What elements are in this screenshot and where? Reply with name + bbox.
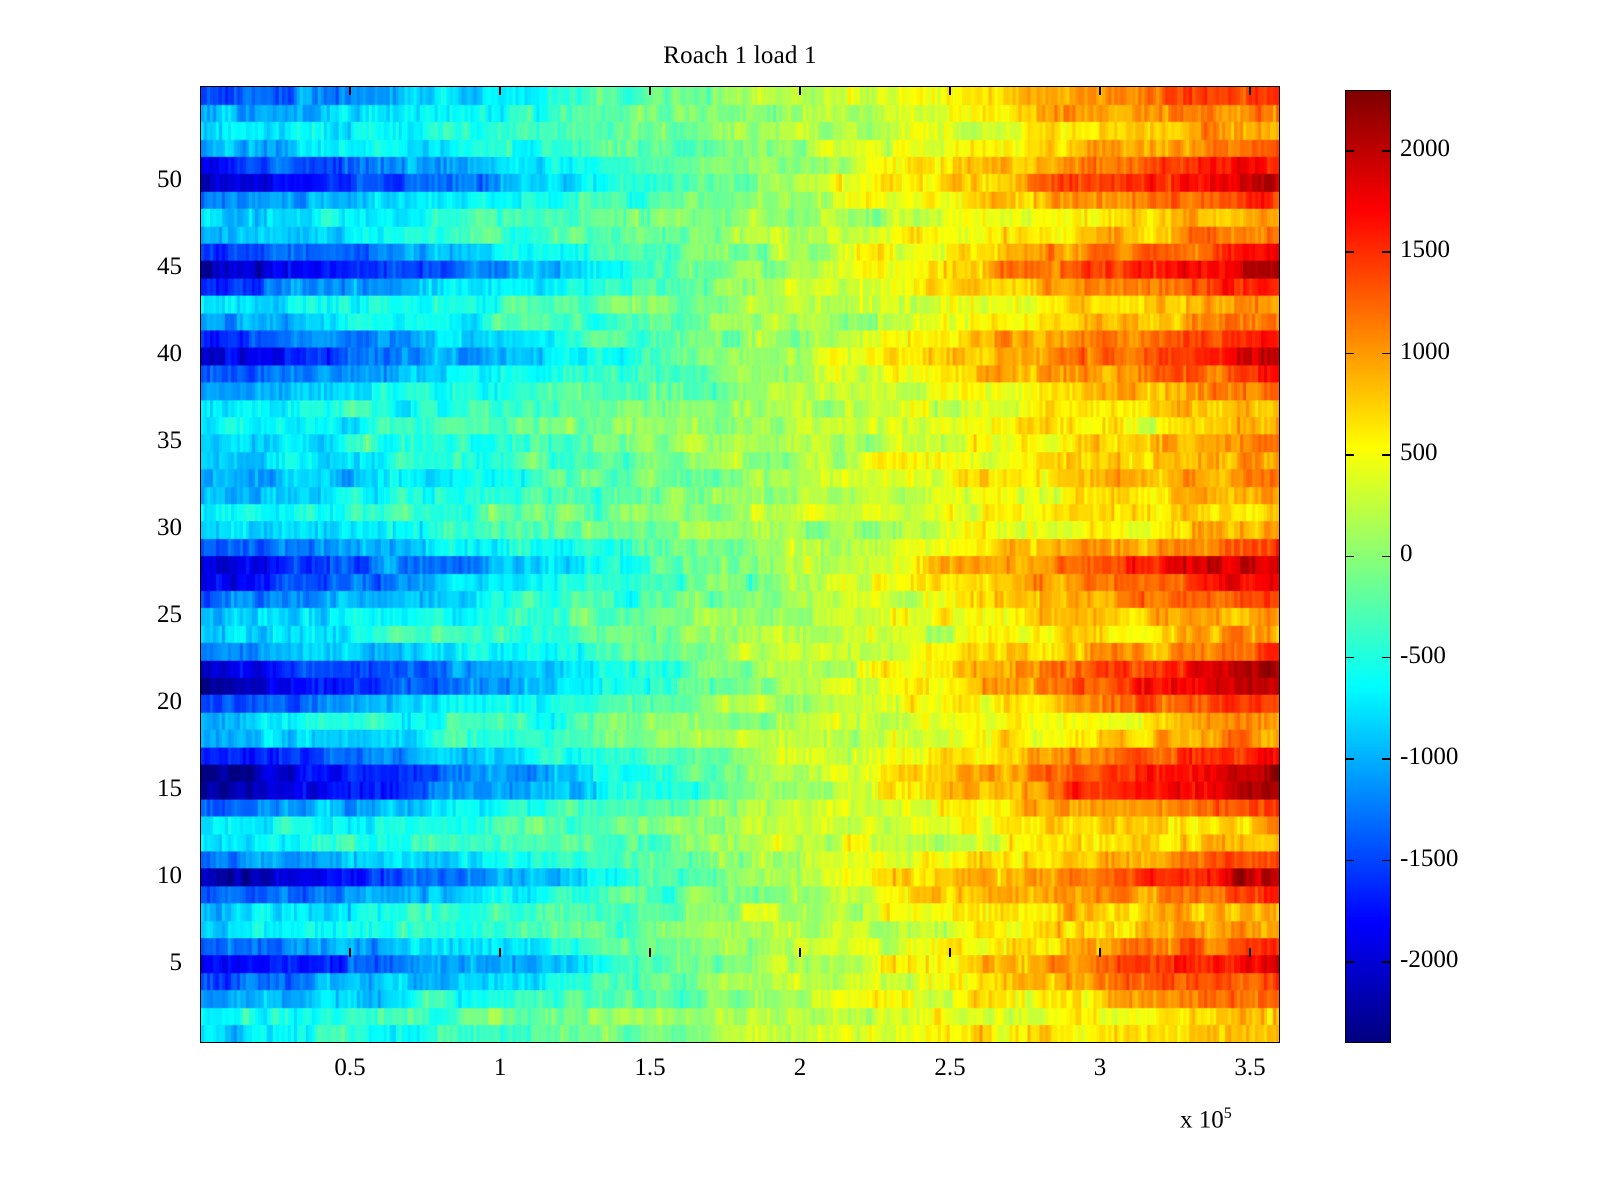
x-axis-tick bbox=[649, 948, 651, 957]
x-axis-tick-label: 3.5 bbox=[1190, 1054, 1310, 1082]
colorbar-tick-right bbox=[1382, 758, 1391, 760]
colorbar-tick-label: -500 bbox=[1400, 642, 1446, 670]
page-title: Roach 1 load 1 bbox=[0, 42, 1480, 70]
colorbar-tick-label: -1000 bbox=[1400, 743, 1458, 771]
colorbar-tick bbox=[1345, 961, 1354, 963]
colorbar-tick-label: 1500 bbox=[1400, 236, 1450, 264]
colorbar-tick-right bbox=[1382, 657, 1391, 659]
colorbar-tick-right bbox=[1382, 961, 1391, 963]
x-axis-tick-label: 1 bbox=[440, 1054, 560, 1082]
y-axis-tick-label: 10 bbox=[72, 862, 182, 890]
y-axis-tick-label: 20 bbox=[72, 688, 182, 716]
x-axis-tick-label: 0.5 bbox=[290, 1054, 410, 1082]
colorbar-tick-right bbox=[1382, 860, 1391, 862]
y-axis-tick-label: 15 bbox=[72, 775, 182, 803]
colorbar-gradient bbox=[1346, 91, 1390, 1042]
heatmap-axes bbox=[200, 86, 1280, 1043]
x-axis-tick bbox=[1099, 948, 1101, 957]
axis-tick-layer: 0.511.522.533.55101520253035404550 bbox=[0, 0, 1600, 30]
y-axis-tick-label: 40 bbox=[72, 340, 182, 368]
x-axis-tick-label: 2 bbox=[740, 1054, 860, 1082]
colorbar-tick bbox=[1345, 556, 1354, 558]
x-axis-tick bbox=[349, 948, 351, 957]
colorbar-tick-label: -1500 bbox=[1400, 845, 1458, 873]
x-axis-tick-top bbox=[349, 86, 351, 95]
x-axis-tick-top bbox=[1099, 86, 1101, 95]
x-exponent-base: x 10 bbox=[1180, 1106, 1224, 1133]
colorbar-tick bbox=[1345, 454, 1354, 456]
x-axis-exponent-label: x 105 bbox=[1180, 1105, 1232, 1134]
y-axis-tick-label: 35 bbox=[72, 427, 182, 455]
y-axis-tick-right bbox=[0, 29, 9, 31]
x-axis-tick-label: 1.5 bbox=[590, 1054, 710, 1082]
colorbar-tick-label: 0 bbox=[1400, 540, 1413, 568]
colorbar-tick bbox=[1345, 657, 1354, 659]
x-axis-tick bbox=[1249, 948, 1251, 957]
y-axis-tick-label: 5 bbox=[72, 949, 182, 977]
colorbar-tick-right bbox=[1382, 454, 1391, 456]
colorbar-tick-label: 1000 bbox=[1400, 338, 1450, 366]
colorbar-tick-label: -2000 bbox=[1400, 946, 1458, 974]
x-axis-tick bbox=[499, 948, 501, 957]
colorbar-tick-right bbox=[1382, 556, 1391, 558]
colorbar-tick-right bbox=[1382, 150, 1391, 152]
colorbar-tick bbox=[1345, 758, 1354, 760]
heatmap-image bbox=[201, 87, 1279, 1042]
x-axis-tick-label: 3 bbox=[1040, 1054, 1160, 1082]
x-axis-tick-top bbox=[949, 86, 951, 95]
x-axis-tick-top bbox=[649, 86, 651, 95]
x-exponent-power: 5 bbox=[1224, 1105, 1232, 1122]
y-axis-tick-label: 25 bbox=[72, 601, 182, 629]
colorbar-tick-label: 500 bbox=[1400, 439, 1438, 467]
y-axis-tick-label: 45 bbox=[72, 253, 182, 281]
x-axis-tick-top bbox=[499, 86, 501, 95]
y-axis-tick-label: 30 bbox=[72, 514, 182, 542]
colorbar-tick-right bbox=[1382, 251, 1391, 253]
x-axis-tick bbox=[949, 948, 951, 957]
colorbar-tick bbox=[1345, 150, 1354, 152]
x-axis-tick-label: 2.5 bbox=[890, 1054, 1010, 1082]
colorbar-tick bbox=[1345, 251, 1354, 253]
colorbar bbox=[1345, 90, 1391, 1043]
colorbar-tick bbox=[1345, 353, 1354, 355]
x-axis-tick-top bbox=[1249, 86, 1251, 95]
figure-canvas: Roach 1 load 1 0.511.522.533.55101520253… bbox=[0, 0, 1600, 1200]
colorbar-tick-right bbox=[1382, 353, 1391, 355]
y-axis-tick-label: 50 bbox=[72, 166, 182, 194]
x-axis-tick-top bbox=[799, 86, 801, 95]
colorbar-tick bbox=[1345, 860, 1354, 862]
x-axis-tick bbox=[799, 948, 801, 957]
colorbar-tick-label: 2000 bbox=[1400, 135, 1450, 163]
